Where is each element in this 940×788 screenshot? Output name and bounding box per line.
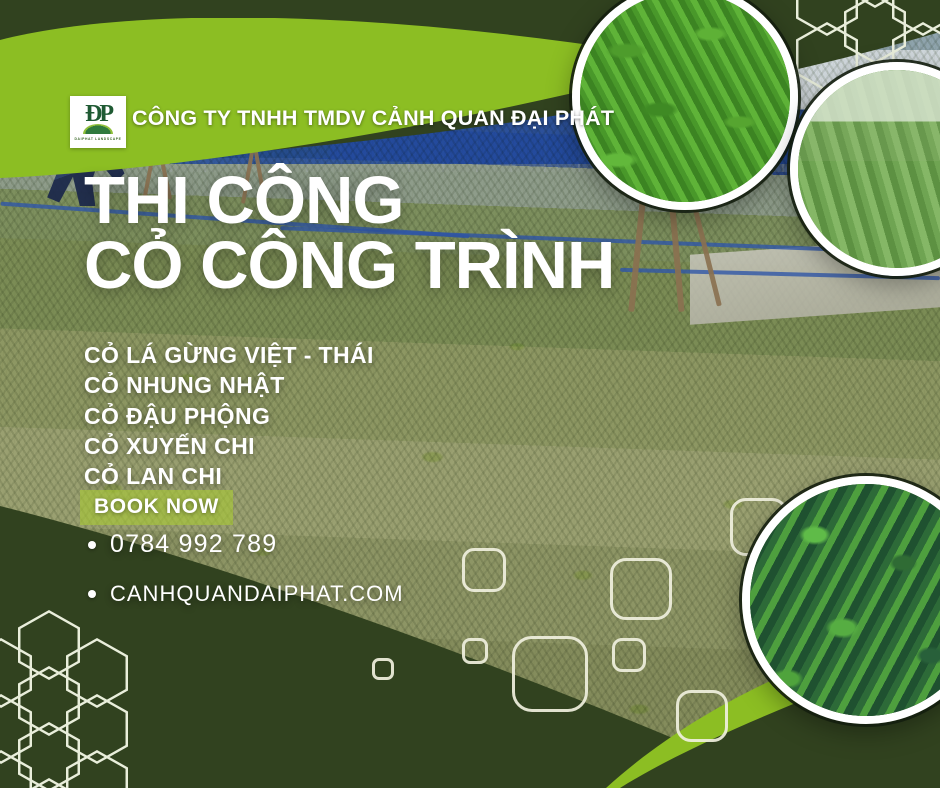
- contact-block: 0784 992 789 CANHQUANDAIPHAT.COM: [88, 530, 404, 607]
- photo-inset-lawn-turf-image: [798, 70, 940, 268]
- decorative-rounded-square: [612, 638, 646, 672]
- company-logo[interactable]: ĐP DAIPHAT LANDSCAPE: [70, 96, 126, 148]
- photo-inset-lan-chi-grass-image: [750, 484, 940, 716]
- service-item: CỎ NHUNG NHẬT: [84, 370, 374, 400]
- bullet-dot-icon: [88, 541, 96, 549]
- decorative-rounded-square: [462, 548, 506, 592]
- decorative-rounded-square: [676, 690, 728, 742]
- photo-inset-lan-chi-grass: [742, 476, 940, 724]
- contact-website-row[interactable]: CANHQUANDAIPHAT.COM: [88, 581, 404, 607]
- poster-canvas: ĐP DAIPHAT LANDSCAPE CÔNG TY TNHH TMDV C…: [0, 0, 940, 788]
- service-item: CỎ XUYẾN CHI: [84, 431, 374, 461]
- photo-inset-lawn-turf: [790, 62, 940, 276]
- service-list: CỎ LÁ GỪNG VIỆT - THÁI CỎ NHUNG NHẬT CỎ …: [84, 340, 374, 492]
- decorative-rounded-square: [610, 558, 672, 620]
- decorative-rounded-square: [372, 658, 394, 680]
- logo-subtext: DAIPHAT LANDSCAPE: [74, 137, 121, 141]
- headline: THI CÔNG CỎ CÔNG TRÌNH: [84, 172, 614, 296]
- bullet-dot-icon: [88, 590, 96, 598]
- service-item: CỎ LAN CHI: [84, 461, 374, 491]
- service-item: CỎ ĐẬU PHỘNG: [84, 401, 374, 431]
- contact-website[interactable]: CANHQUANDAIPHAT.COM: [110, 581, 404, 607]
- decorative-rounded-square: [462, 638, 488, 664]
- headline-line-1: THI CÔNG: [84, 172, 614, 231]
- contact-phone[interactable]: 0784 992 789: [110, 530, 277, 559]
- headline-line-2: CỎ CÔNG TRÌNH: [84, 237, 614, 296]
- service-item: CỎ LÁ GỪNG VIỆT - THÁI: [84, 340, 374, 370]
- company-name: CÔNG TY TNHH TMDV CẢNH QUAN ĐẠI PHÁT: [132, 106, 614, 131]
- decorative-rounded-square: [512, 636, 588, 712]
- logo-monogram: ĐP: [85, 103, 111, 125]
- book-now-button[interactable]: BOOK NOW: [80, 490, 233, 525]
- contact-phone-row[interactable]: 0784 992 789: [88, 530, 404, 559]
